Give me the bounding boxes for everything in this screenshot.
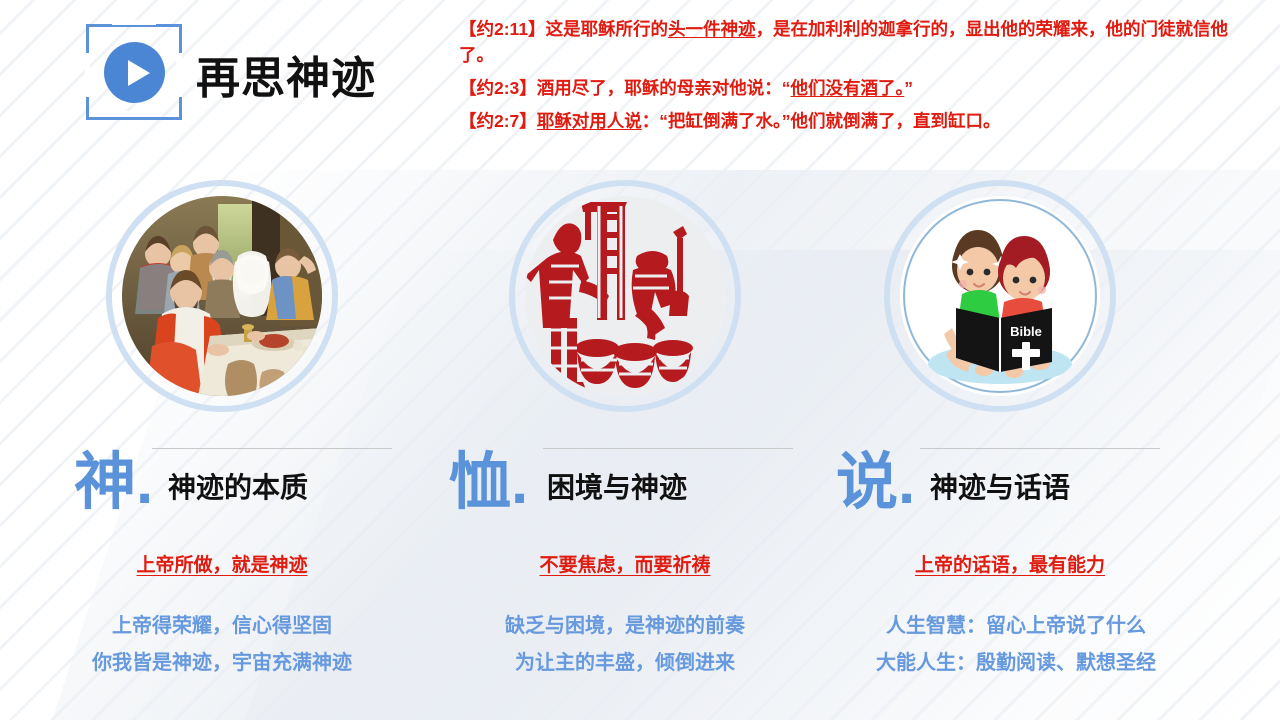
verse-text-before: 这是耶稣所行的 [546,19,669,39]
verse-text-before: 酒用尽了，耶稣的母亲对他说：“ [537,78,791,98]
verse-reference: 【约2:7】 [459,111,537,131]
circle-image-water-jars [509,180,741,412]
heading-row: 神. 神迹的本质 [22,442,422,512]
column-miracle-nature: 神. 神迹的本质 上帝所做，就是神迹 上帝得荣耀，信心得坚固 你我皆是神迹，宇宙… [22,180,422,412]
heading-keyword-char: 恤 [449,448,511,517]
supporting-point: 缺乏与困境，是神迹的前奏 [425,608,825,645]
servants-filling-water-jars-woodcut [525,196,725,396]
verse-reference: 【约2:3】 [459,78,537,98]
verse-text-underlined: 他们没有酒了。 [791,78,905,98]
heading-keyword-dot: . [898,448,915,517]
supporting-points: 人生智慧：留心上帝说了什么 大能人生：殷勤阅读、默想圣经 [816,608,1216,682]
scripture-block: 【约2:11】这是耶稣所行的头一件神迹，是在加利利的迦拿行的，显出他的荣耀来，他… [459,16,1259,141]
heading-keyword-dot: . [511,448,528,517]
heading-divider [920,448,1160,449]
supporting-point: 你我皆是神迹，宇宙充满神迹 [22,645,422,682]
verse-reference: 【约2:11】 [459,19,546,39]
children-reading-bible-illustration: Bible [900,196,1100,396]
circle-image-wedding-at-cana [106,180,338,412]
heading-divider [543,448,793,449]
logo-badge [86,24,194,132]
heading-keyword: 恤. [449,452,528,514]
slide-canvas: 再思神迹 【约2:11】这是耶稣所行的头一件神迹，是在加利利的迦拿行的，显出他的… [0,0,1280,720]
supporting-point: 人生智慧：留心上帝说了什么 [816,608,1216,645]
heading-keyword: 神. [74,452,153,514]
verse-text-after: ” [904,78,913,98]
verse-john-2-3: 【约2:3】酒用尽了，耶稣的母亲对他说：“他们没有酒了。” [459,75,1259,101]
heading-subtitle: 困境与神迹 [547,466,687,506]
heading-keyword-dot: . [136,448,153,517]
page-title: 再思神迹 [196,42,376,106]
content-columns: 神. 神迹的本质 上帝所做，就是神迹 上帝得荣耀，信心得坚固 你我皆是神迹，宇宙… [0,180,1280,720]
verse-john-2-7: 【约2:7】耶稣对用人说：“把缸倒满了水。”他们就倒满了，直到缸口。 [459,108,1259,134]
supporting-points: 缺乏与困境，是神迹的前奏 为让主的丰盛，倾倒进来 [425,608,825,682]
heading-keyword-char: 神 [74,448,136,517]
circle-image-children-bible: Bible [884,180,1116,412]
heading-divider [152,448,392,449]
heading-subtitle: 神迹的本质 [168,466,308,506]
supporting-points: 上帝得荣耀，信心得坚固 你我皆是神迹，宇宙充满神迹 [22,608,422,682]
logo-frame-gap-top [112,20,156,25]
verse-text-underlined: 耶稣对用人说 [537,111,642,131]
verse-text-after: ：“把缸倒满了水。”他们就倒满了，直到缸口。 [642,111,1001,131]
logo-frame-gap-bottom [112,111,156,117]
column-trouble-and-miracle: 恤. 困境与神迹 不要焦虑，而要祈祷 缺乏与困境，是神迹的前奏 为让主的丰盛，倾… [425,180,825,412]
column-miracle-and-word: Bible 说. 神迹与话语 上帝的话语，最有能力 人生智慧：留心上帝说了什么 … [800,180,1200,412]
heading-subtitle: 神迹与话语 [930,466,1070,506]
supporting-point: 上帝得荣耀，信心得坚固 [22,608,422,645]
verse-john-2-11: 【约2:11】这是耶稣所行的头一件神迹，是在加利利的迦拿行的，显出他的荣耀来，他… [459,16,1259,68]
key-point-red: 上帝所做，就是神迹 [22,550,422,577]
play-triangle-icon [128,60,150,86]
heading-row: 说. 神迹与话语 [800,442,1200,512]
key-point-red: 不要焦虑，而要祈祷 [425,550,825,577]
verse-text-underlined: 头一件神迹 [668,19,756,39]
heading-keyword: 说. [836,452,915,514]
heading-keyword-char: 说 [836,448,898,517]
svg-text:Bible: Bible [1010,324,1042,339]
heading-row: 恤. 困境与神迹 [425,442,825,512]
key-point-red: 上帝的话语，最有能力 [810,550,1210,577]
wedding-at-cana-painting [122,196,322,396]
supporting-point: 为让主的丰盛，倾倒进来 [425,645,825,682]
supporting-point: 大能人生：殷勤阅读、默想圣经 [816,645,1216,682]
